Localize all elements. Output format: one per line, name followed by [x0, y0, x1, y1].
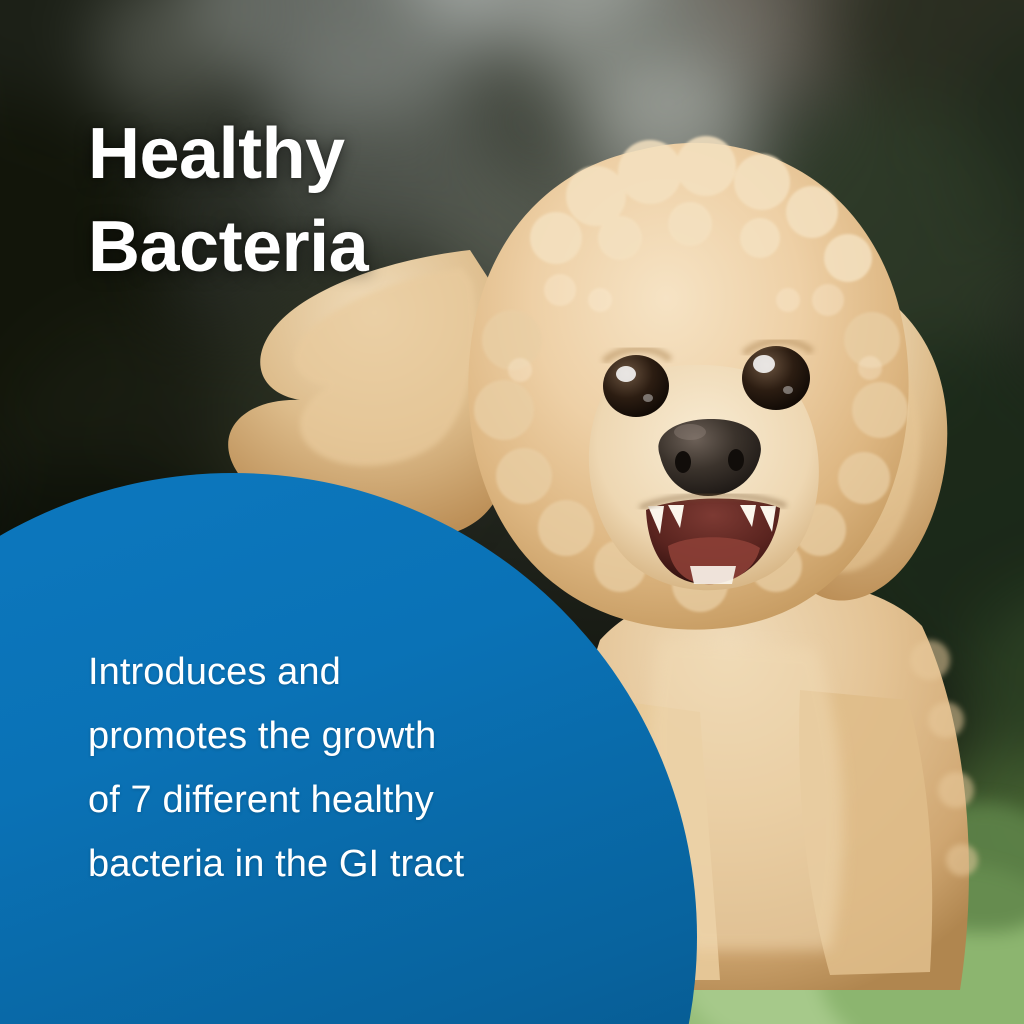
benefit-description: Introduces and promotes the growth of 7 …	[88, 640, 464, 896]
page-title: Healthy Bacteria	[88, 108, 368, 294]
dog-head	[468, 136, 908, 630]
promo-card: Healthy Bacteria Introduces and promotes…	[0, 0, 1024, 1024]
